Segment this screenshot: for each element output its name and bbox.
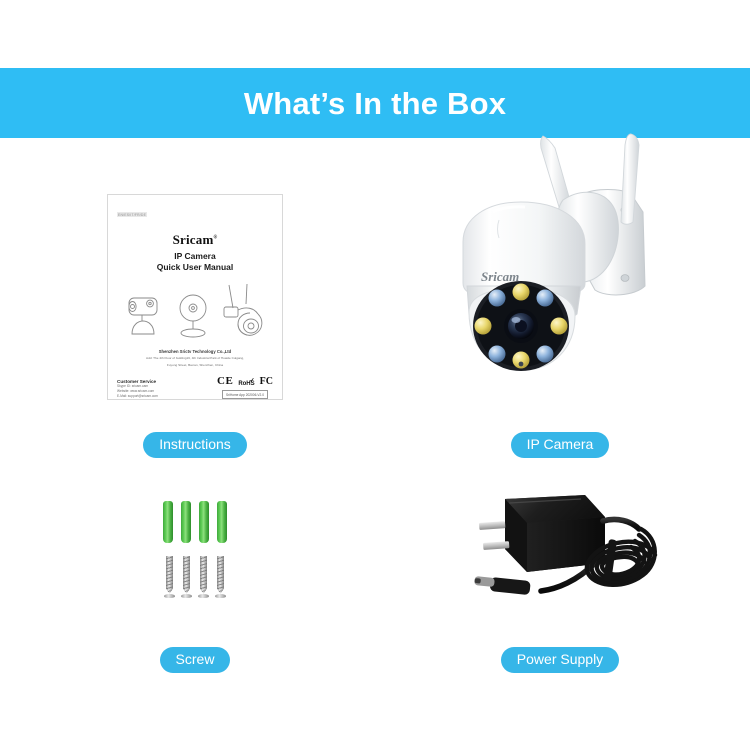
manual-line2: Quick User Manual (117, 262, 273, 272)
rohs-mark-icon: ✓ RoHS (238, 381, 254, 387)
box-contents-grid: EN/ES/IT/FR/DE Sricam® IP Camera Quick U… (0, 138, 750, 698)
ir-led-top-left (489, 289, 506, 306)
manual-line1: IP Camera (117, 251, 273, 261)
camera-figure-ptz-icon (220, 282, 270, 342)
antenna-left (541, 136, 571, 208)
manual-language-codes: EN/ES/IT/FR/DE (117, 212, 147, 217)
instructions-artwork: EN/ES/IT/FR/DE Sricam® IP Camera Quick U… (35, 168, 355, 426)
ptz-dome-camera-image: Sricam (435, 126, 685, 426)
warm-led-left (475, 317, 492, 334)
screw-row (165, 556, 225, 598)
screw (216, 556, 225, 598)
screw-shaft (217, 556, 224, 594)
screw-shaft (166, 556, 173, 594)
manual-customer-service: Customer Service Skype ID: sricam.cam We… (117, 379, 158, 399)
prong-upper (479, 521, 505, 530)
label-screw: Screw (160, 647, 231, 673)
wall-anchor (163, 501, 173, 543)
ac-power-adapter-image (445, 477, 675, 622)
manual-address-line2: Fuyong Street, Bao'an, Shenzhen, China (117, 363, 273, 368)
ac-prongs (479, 521, 509, 550)
ip-camera-artwork: Sricam (400, 126, 720, 426)
manual-footer: Customer Service Skype ID: sricam.cam We… (117, 375, 273, 399)
wall-anchor (181, 501, 191, 543)
manual-certifications: CE ✓ RoHS FC SriHome App 202006-V2.0 (217, 375, 273, 399)
screw-head (215, 594, 226, 598)
manual-figures (117, 280, 273, 342)
ir-led-top-right (537, 289, 554, 306)
fc-mark-icon: FC (260, 376, 273, 387)
power-supply-artwork (400, 458, 720, 641)
registered-mark-icon: ® (213, 235, 217, 240)
camera-figure-box-icon (120, 290, 166, 342)
screw (199, 556, 208, 598)
ir-led-bottom-left (489, 345, 506, 362)
rohs-check-icon: ✓ (250, 377, 255, 384)
ir-led-bottom-right (537, 345, 554, 362)
screw (165, 556, 174, 598)
label-ip-camera: IP Camera (511, 432, 610, 458)
screw (182, 556, 191, 598)
screw-shaft (200, 556, 207, 594)
manual-address-line1: Add: The 4th Floor of building16, 4th In… (117, 356, 273, 361)
label-power-supply: Power Supply (501, 647, 619, 673)
screw-head (198, 594, 209, 598)
manual-app-version: SriHome App 202006-V2.0 (222, 390, 268, 399)
warm-led-top (513, 283, 530, 300)
manual-brand: Sricam® (117, 232, 273, 248)
item-ip-camera: Sricam (400, 138, 720, 458)
wall-anchor (199, 501, 209, 543)
page-title: What’s In the Box (244, 88, 506, 119)
screw-artwork (35, 458, 355, 641)
light-sensor (519, 361, 524, 366)
item-screw: Screw (35, 458, 355, 673)
screw-head (164, 594, 175, 598)
manual-booklet: EN/ES/IT/FR/DE Sricam® IP Camera Quick U… (107, 194, 283, 400)
label-instructions: Instructions (143, 432, 247, 458)
dc-barrel-connector (474, 576, 531, 595)
manual-company-name: Shenzhen Srictv Technology Co.,Ltd (117, 349, 273, 354)
ce-mark-icon: CE (217, 375, 233, 387)
camera-figure-round-icon (172, 290, 214, 342)
wall-anchor-row (163, 501, 227, 543)
wall-anchor (217, 501, 227, 543)
item-power-supply: Power Supply (400, 458, 720, 673)
screw-shaft (183, 556, 190, 594)
customer-service-email: E-Mail: support@sricam.com (117, 394, 158, 399)
item-instructions: EN/ES/IT/FR/DE Sricam® IP Camera Quick U… (35, 168, 355, 458)
camera-lens-module (469, 281, 575, 371)
screw-head (181, 594, 192, 598)
manual-brand-text: Sricam (173, 232, 214, 247)
warm-led-right (551, 317, 568, 334)
